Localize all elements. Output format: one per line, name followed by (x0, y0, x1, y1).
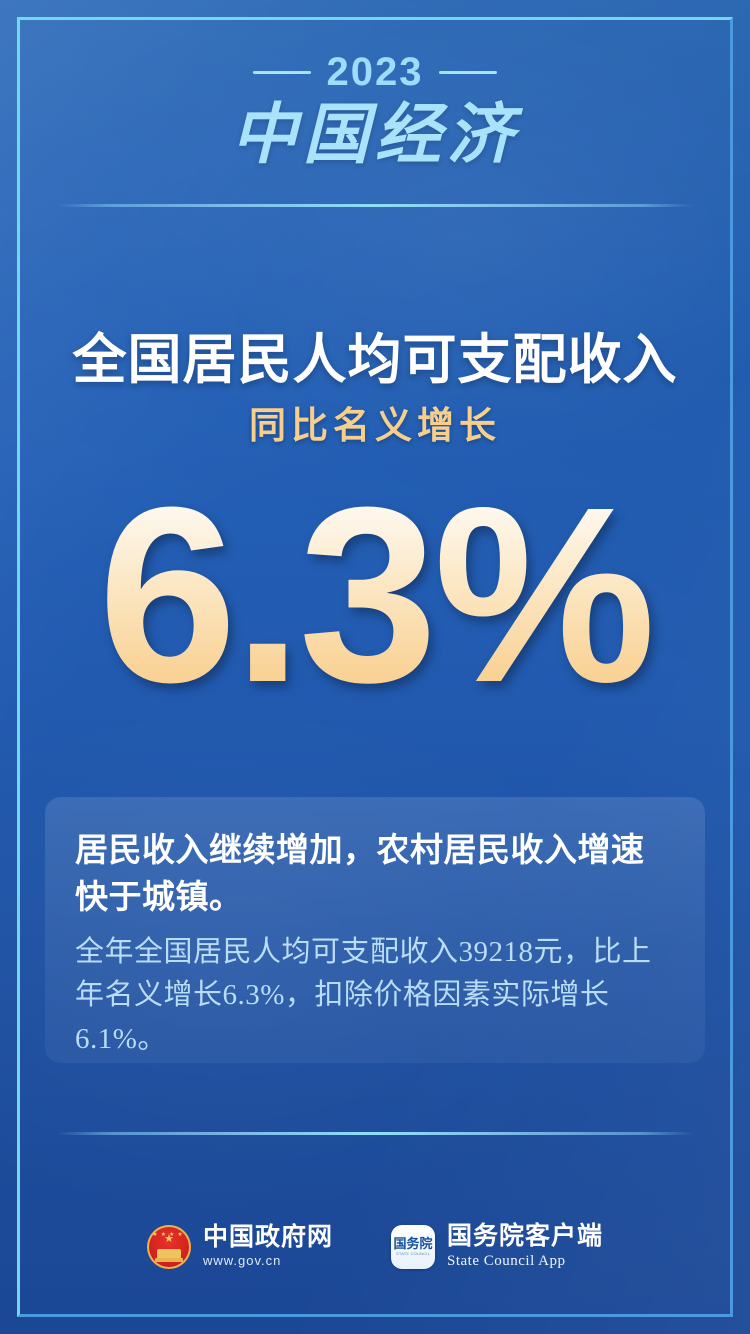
gov-name-label: 中国政府网 (203, 1223, 333, 1252)
year-label: 2023 (327, 52, 424, 92)
gov-logo-text: 中国政府网 www.gov.cn (203, 1223, 333, 1270)
app-logo-text: 国务院客户端 State Council App (447, 1222, 603, 1272)
brand-title: 中国经济 (0, 98, 750, 174)
app-english-label: State Council App (447, 1251, 603, 1272)
footer: ★★★★ ★ 中国政府网 www.gov.cn 国务院 STATE COUNCI… (0, 1222, 750, 1272)
dash-right-icon (439, 71, 497, 74)
emblem-base-icon (155, 1258, 183, 1262)
divider-bottom (57, 1132, 693, 1135)
year-row: 2023 (0, 52, 750, 92)
summary-card: 居民收入继续增加，农村居民收入增速快于城镇。 全年全国居民人均可支配收入3921… (45, 797, 705, 1063)
summary-lead-text: 居民收入继续增加，农村居民收入增速快于城镇。 (75, 827, 675, 921)
app-name-label: 国务院客户端 (447, 1222, 603, 1251)
national-emblem-icon: ★★★★ ★ (147, 1225, 191, 1269)
gov-logo-unit[interactable]: ★★★★ ★ 中国政府网 www.gov.cn (147, 1223, 333, 1270)
state-council-app-icon: 国务院 STATE COUNCIL (391, 1225, 435, 1269)
headline-block: 全国居民人均可支配收入 同比名义增长 (0, 330, 750, 447)
stat-wrapper: 6.3% (0, 470, 750, 720)
app-icon-sublabel: STATE COUNCIL (396, 1252, 430, 1256)
emblem-big-star-icon: ★ (164, 1234, 174, 1245)
header: 2023 中国经济 (0, 52, 750, 174)
dash-left-icon (253, 71, 311, 74)
summary-body-text: 全年全国居民人均可支配收入39218元，比上年名义增长6.3%，扣除价格因素实际… (75, 931, 675, 1062)
app-logo-unit[interactable]: 国务院 STATE COUNCIL 国务院客户端 State Council A… (391, 1222, 603, 1272)
stat-value: 6.3% (98, 470, 652, 720)
poster-root: 2023 中国经济 全国居民人均可支配收入 同比名义增长 6.3% 居民收入继续… (0, 0, 750, 1334)
divider-top (57, 204, 693, 207)
page-title: 全国居民人均可支配收入 (0, 330, 750, 390)
emblem-gate-icon (157, 1249, 181, 1258)
app-icon-label: 国务院 (393, 1237, 432, 1250)
subtitle: 同比名义增长 (0, 406, 750, 447)
gov-url-label: www.gov.cn (203, 1252, 333, 1270)
